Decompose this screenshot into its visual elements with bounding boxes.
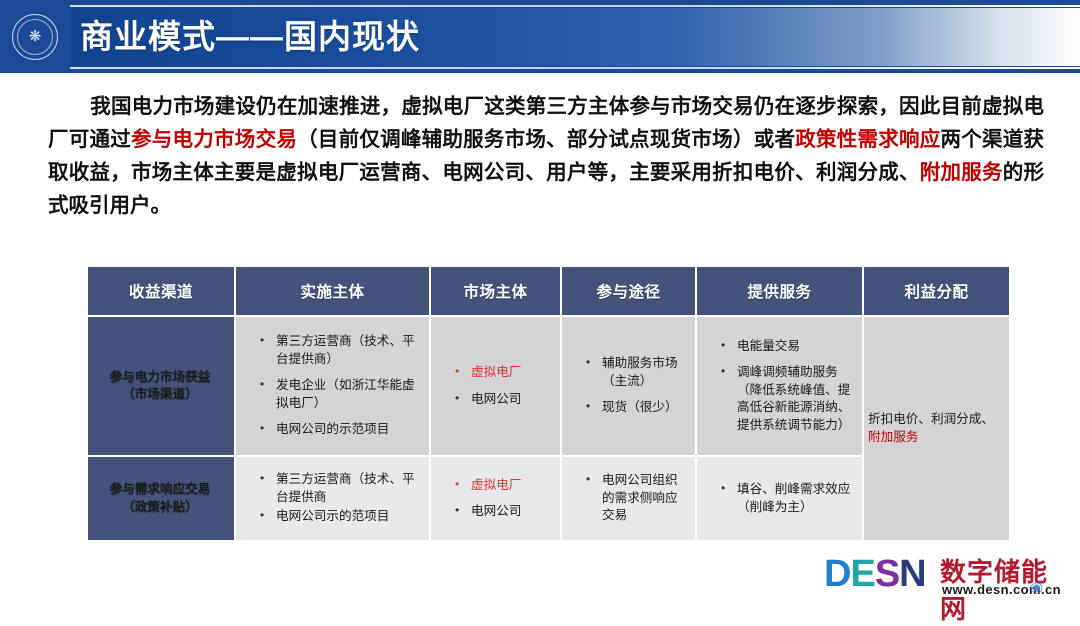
list-item-text: 虚拟电厂 [471, 365, 521, 379]
list-item-text: 现货（很少） [602, 400, 678, 414]
list-item: 调峰调频辅助服务（降低系统峰值、提高低谷新能源消纳、提供系统调节能力） [721, 364, 854, 434]
seal-glyph: ❋ [29, 29, 42, 44]
watermark-logo: DESN 数字储能网 www.desn.com.cn ◉ [824, 554, 1072, 600]
brand-letter-d: D [824, 553, 850, 595]
paragraph-highlight-3: 附加服务 [920, 161, 1003, 184]
slide-header: ❋ 商业模式——国内现状 [0, 0, 1080, 73]
cell-market-actor-row2: 虚拟电厂 电网公司 [431, 457, 560, 540]
paragraph-segment-2: （目前仅调峰辅助服务市场、部分试点现货市场）或者 [297, 128, 795, 151]
list-item-text: 第三方运营商（技术、平台提供商） [276, 334, 415, 366]
list-item: 辅助服务市场（主流） [586, 355, 687, 390]
page-title: 商业模式——国内现状 [80, 8, 420, 66]
paragraph-highlight-1: 参与电力市场交易 [131, 128, 297, 151]
list-item: 发电企业（如浙江华能虚拟电厂） [260, 377, 421, 412]
list-item-text: 第三方运营商（技术、平台提供商 [276, 472, 415, 504]
list-item-text: 辅助服务市场（主流） [602, 356, 678, 388]
cell-participation-path-row1: 辅助服务市场（主流） 现货（很少） [562, 317, 695, 455]
list-item: 电网公司 [455, 503, 552, 521]
brand-letter-s: S [875, 553, 899, 595]
list-item-text: 电网公司组织的需求侧响应交易 [602, 473, 678, 522]
list-item-text: 电网公司 [471, 504, 521, 518]
benefit-text-plain-2: 成、 [969, 412, 994, 426]
brand-letter-e: E [850, 553, 874, 595]
copyright-badge-icon: ◉ [1030, 578, 1043, 596]
col-header-participation-path: 参与途径 [562, 267, 695, 315]
list-item-text: 发电企业（如浙江华能虚拟电厂） [276, 378, 415, 410]
bullet-list: 电能量交易 调峰调频辅助服务（降低系统峰值、提高低谷新能源消纳、提供系统调节能力… [701, 338, 856, 435]
col-header-benefit-allocation: 利益分配 [864, 267, 1009, 315]
list-item: 现货（很少） [586, 399, 687, 417]
bullet-list: 辅助服务市场（主流） 现货（很少） [566, 355, 689, 417]
table-row: 参与电力市场获益 （市场渠道） 第三方运营商（技术、平台提供商） 发电企业（如浙… [88, 317, 1009, 455]
cell-benefit-allocation-merged: 折扣电价、利润分成、附加服务 [864, 317, 1009, 540]
list-item: 电网公司示的范项目 [260, 508, 421, 526]
benefit-text-plain: 折扣电价、利润分 [868, 412, 969, 426]
cell-service-row2: 填谷、削峰需求效应（削峰为主） [697, 457, 862, 540]
channel-line-1: 参与需求响应交易 [92, 481, 228, 499]
header-rule-top [70, 5, 1080, 7]
cell-implementer-row2: 第三方运营商（技术、平台提供商 电网公司示的范项目 [236, 457, 429, 540]
cell-revenue-channel-row1: 参与电力市场获益 （市场渠道） [88, 317, 234, 455]
list-item-text: 调峰调频辅助服务（降低系统峰值、提高低谷新能源消纳、提供系统调节能力） [737, 365, 850, 432]
brand-letter-n: N [899, 553, 925, 595]
col-header-revenue-channel: 收益渠道 [88, 267, 234, 315]
cell-market-actor-row1: 虚拟电厂 电网公司 [431, 317, 560, 455]
bullet-list: 填谷、削峰需求效应（削峰为主） [701, 481, 856, 516]
channel-line-2: （市场渠道） [92, 386, 228, 404]
list-item: 第三方运营商（技术、平台提供商 [260, 471, 421, 506]
table-header-row: 收益渠道 实施主体 市场主体 参与途径 提供服务 利益分配 [88, 267, 1009, 315]
cell-participation-path-row2: 电网公司组织的需求侧响应交易 [562, 457, 695, 540]
paragraph-highlight-2: 政策性需求响应 [795, 128, 940, 151]
list-item: 电网公司组织的需求侧响应交易 [586, 472, 687, 525]
university-seal-icon: ❋ [12, 14, 58, 60]
channel-line-1: 参与电力市场获益 [92, 369, 228, 387]
list-item-text: 电网公司的示范项目 [276, 422, 389, 436]
col-header-implementer: 实施主体 [236, 267, 429, 315]
channel-line-2: （政策补贴） [92, 499, 228, 517]
cell-implementer-row1: 第三方运营商（技术、平台提供商） 发电企业（如浙江华能虚拟电厂） 电网公司的示范… [236, 317, 429, 455]
list-item: 电网公司的示范项目 [260, 421, 421, 439]
cell-revenue-channel-row2: 参与需求响应交易 （政策补贴） [88, 457, 234, 540]
cell-service-row1: 电能量交易 调峰调频辅助服务（降低系统峰值、提高低谷新能源消纳、提供系统调节能力… [697, 317, 862, 455]
col-header-market-actor: 市场主体 [431, 267, 560, 315]
body-paragraph: 我国电力市场建设仍在加速推进，虚拟电厂这类第三方主体参与市场交易仍在逐步探索，因… [48, 90, 1044, 222]
list-item: 电网公司 [455, 391, 552, 409]
bullet-list: 第三方运营商（技术、平台提供商） 发电企业（如浙江华能虚拟电厂） 电网公司的示范… [240, 333, 423, 439]
brand-letters: DESN [824, 554, 926, 594]
list-item-highlighted: 虚拟电厂 [455, 477, 552, 495]
list-item: 第三方运营商（技术、平台提供商） [260, 333, 421, 368]
benefit-text-highlight: 附加服务 [868, 430, 918, 444]
bullet-list: 虚拟电厂 电网公司 [435, 364, 554, 408]
bullet-list: 虚拟电厂 电网公司 [435, 477, 554, 521]
brand-url: www.desn.com.cn [942, 582, 1061, 597]
list-item-text: 电能量交易 [737, 339, 800, 353]
bullet-list: 电网公司组织的需求侧响应交易 [566, 472, 689, 525]
list-item-text: 电网公司示的范项目 [276, 509, 389, 523]
business-model-table: 收益渠道 实施主体 市场主体 参与途径 提供服务 利益分配 参与电力市场获益 （… [86, 265, 1011, 542]
header-rule-bottom [70, 67, 1080, 69]
col-header-service-provided: 提供服务 [697, 267, 862, 315]
list-item: 电能量交易 [721, 338, 854, 356]
header-logo-zone: ❋ [0, 0, 70, 73]
list-item-text: 虚拟电厂 [471, 478, 521, 492]
list-item: 填谷、削峰需求效应（削峰为主） [721, 481, 854, 516]
list-item-text: 电网公司 [471, 392, 521, 406]
list-item-highlighted: 虚拟电厂 [455, 364, 552, 382]
list-item-text: 填谷、削峰需求效应（削峰为主） [737, 482, 850, 514]
bullet-list: 第三方运营商（技术、平台提供商 电网公司示的范项目 [240, 471, 423, 526]
